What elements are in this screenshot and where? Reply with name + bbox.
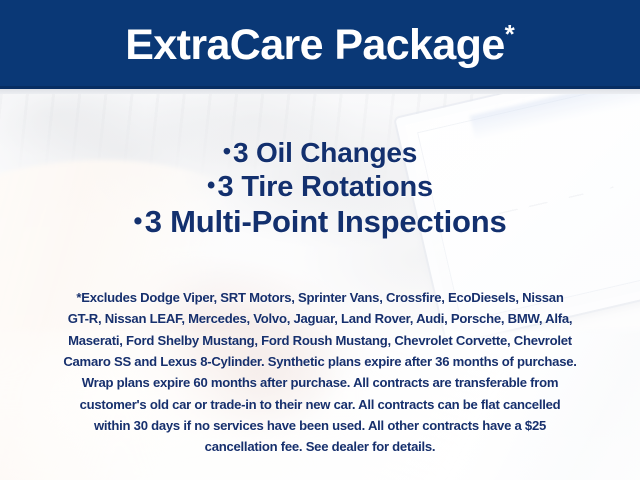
disclaimer-line: Camaro SS and Lexus 8-Cylinder. Syntheti… [34,351,606,372]
benefit-item-multi-point-inspections: •3 Multi-Point Inspections [0,206,640,239]
benefit-label: 3 Multi-Point Inspections [145,204,507,239]
page-title: ExtraCare Package* [125,21,515,69]
disclaimer-line: Maserati, Ford Shelby Mustang, Ford Rous… [34,330,606,351]
benefit-item-oil-changes: •3 Oil Changes [0,138,640,168]
disclaimer-line: within 30 days if no services have been … [34,415,606,436]
disclaimer-line: customer's old car or trade-in to their … [34,394,606,415]
bullet-dot-icon: • [223,138,231,164]
banner-underline-divider [0,89,640,94]
extracare-package-ad: ExtraCare Package* •3 Oil Changes •3 Tir… [0,0,640,480]
bullet-dot-icon: • [207,172,215,199]
header-banner: ExtraCare Package* [0,0,640,89]
page-title-text: ExtraCare Package [125,21,504,69]
benefit-item-tire-rotations: •3 Tire Rotations [0,172,640,203]
bullet-dot-icon: • [133,207,142,235]
disclaimer-line: cancellation fee. See dealer for details… [34,436,606,457]
page-title-asterisk: * [505,19,515,49]
benefit-label: 3 Oil Changes [233,137,417,168]
disclaimer-line: *Excludes Dodge Viper, SRT Motors, Sprin… [34,287,606,308]
benefit-label: 3 Tire Rotations [218,171,433,203]
benefits-list: •3 Oil Changes •3 Tire Rotations •3 Mult… [0,138,640,239]
disclaimer-text: *Excludes Dodge Viper, SRT Motors, Sprin… [34,287,606,458]
disclaimer-line: Wrap plans expire 60 months after purcha… [34,372,606,393]
disclaimer-line: GT-R, Nissan LEAF, Mercedes, Volvo, Jagu… [34,308,606,329]
